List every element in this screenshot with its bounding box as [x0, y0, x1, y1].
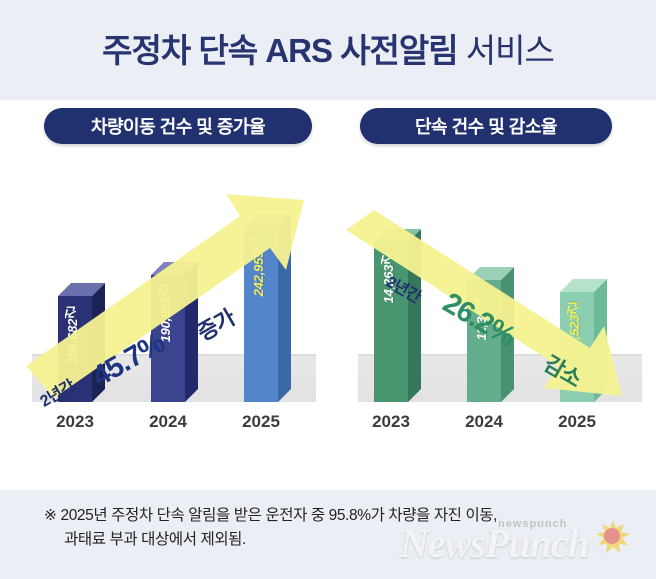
section-title-enforcement-label: 단속 건수 및 감소율	[415, 113, 557, 139]
decline-arrow-down	[344, 156, 656, 490]
axis-year-2023-left: 2023	[45, 412, 105, 432]
axis-year-2024-left: 2024	[138, 412, 198, 432]
title-band: 주정차 단속 ARS 사전알림 서비스	[0, 0, 656, 100]
chart-ground-plate-right	[358, 354, 642, 402]
bar-value-2023-right: 14,263건	[379, 252, 398, 308]
charts-card: 차량이동 건수 및 증가율 단속 건수 및 감소율	[0, 100, 656, 490]
bar-value-2025-right: 10,523건	[565, 302, 584, 358]
axis-year-2025-left: 2025	[231, 412, 291, 432]
axis-year-2024-right: 2024	[454, 412, 514, 432]
bar-value-2023-left: 166,682건	[63, 306, 82, 369]
chart-vehicle-move: 166,682건 190,935건 242,959건 2년간 45.7% 증가 …	[18, 156, 330, 490]
page-title-bold: 주정차 단속 ARS 사전알림	[102, 32, 457, 69]
page-title-thin: 서비스	[458, 32, 554, 69]
axis-year-2025-right: 2025	[547, 412, 607, 432]
chart-bars-right	[344, 156, 656, 490]
chart-enforcement: 14,263건 11,317건 10,523건 2년간 26.2% 감소 202…	[344, 156, 656, 490]
bar-value-2024-left: 190,935건	[156, 284, 175, 347]
bar-value-2025-left: 242,959건	[249, 238, 268, 301]
footnote-line-2: 과태료 부과 대상에서 제외됨.	[44, 528, 624, 552]
axis-year-2023-right: 2023	[361, 412, 421, 432]
page-title: 주정차 단속 ARS 사전알림 서비스	[0, 24, 656, 72]
section-title-vehicle-move: 차량이동 건수 및 증가율	[44, 108, 312, 144]
infographic-page: 주정차 단속 ARS 사전알림 서비스 차량이동 건수 및 증가율 단속 건수 …	[0, 0, 656, 579]
footnote-text: ※ 2025년 주정차 단속 알림을 받은 운전자 중 95.8%가 차량을 자…	[44, 504, 624, 552]
section-title-vehicle-move-label: 차량이동 건수 및 증가율	[91, 113, 265, 139]
arrow-suffix-left: 증가	[191, 301, 240, 348]
bar-value-2024-right: 11,317건	[472, 290, 491, 345]
section-title-enforcement: 단속 건수 및 감소율	[360, 108, 612, 144]
footnote-band: ※ 2025년 주정차 단속 알림을 받은 운전자 중 95.8%가 차량을 자…	[0, 490, 656, 579]
footnote-line-1: ※ 2025년 주정차 단속 알림을 받은 운전자 중 95.8%가 차량을 자…	[44, 504, 624, 528]
